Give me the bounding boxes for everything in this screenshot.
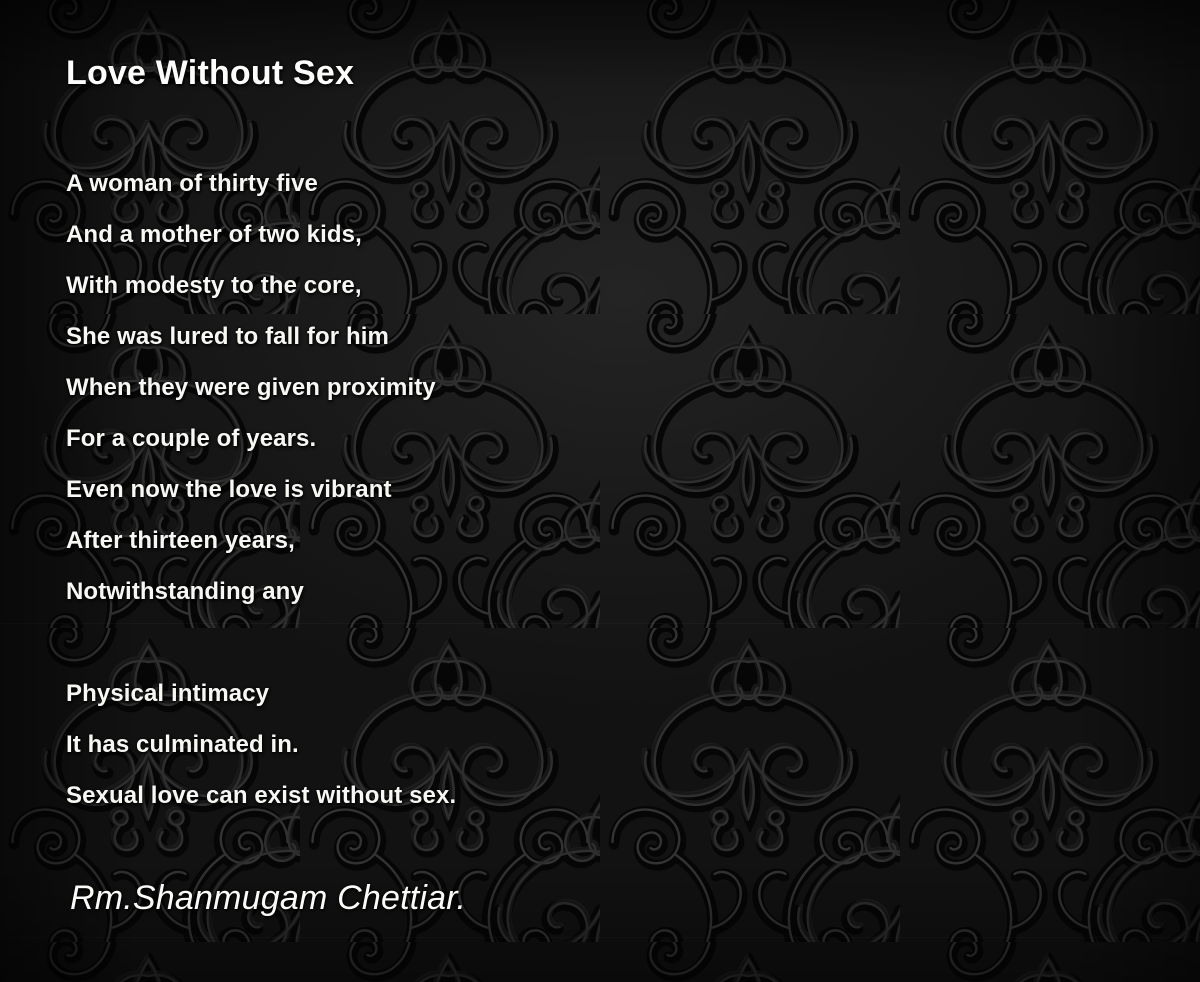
- poem-line: Physical intimacy: [66, 668, 706, 719]
- poem-line: She was lured to fall for him: [66, 311, 706, 362]
- poem-line: It has culminated in.: [66, 719, 706, 770]
- poem-stanza-2: Physical intimacy It has culminated in. …: [66, 668, 706, 821]
- poem-line: A woman of thirty five: [66, 158, 706, 209]
- poem-line: When they were given proximity: [66, 362, 706, 413]
- poem-line: With modesty to the core,: [66, 260, 706, 311]
- poem-line: Sexual love can exist without sex.: [66, 770, 706, 821]
- poem-line: Notwithstanding any: [66, 566, 706, 617]
- poem-line: After thirteen years,: [66, 515, 706, 566]
- poem-line: Even now the love is vibrant: [66, 464, 706, 515]
- poem-author-signature: Rm.Shanmugam Chettiar.: [70, 879, 466, 918]
- stanza-separator: [66, 617, 706, 668]
- poem-line: For a couple of years.: [66, 413, 706, 464]
- poem-title: Love Without Sex: [66, 54, 354, 93]
- poem-body: A woman of thirty five And a mother of t…: [66, 158, 706, 821]
- poem-line: And a mother of two kids,: [66, 209, 706, 260]
- poem-stanza-1: A woman of thirty five And a mother of t…: [66, 158, 706, 617]
- poem-image-card: Love Without Sex A woman of thirty five …: [0, 0, 1200, 982]
- poem-text-content: Love Without Sex A woman of thirty five …: [0, 0, 1200, 982]
